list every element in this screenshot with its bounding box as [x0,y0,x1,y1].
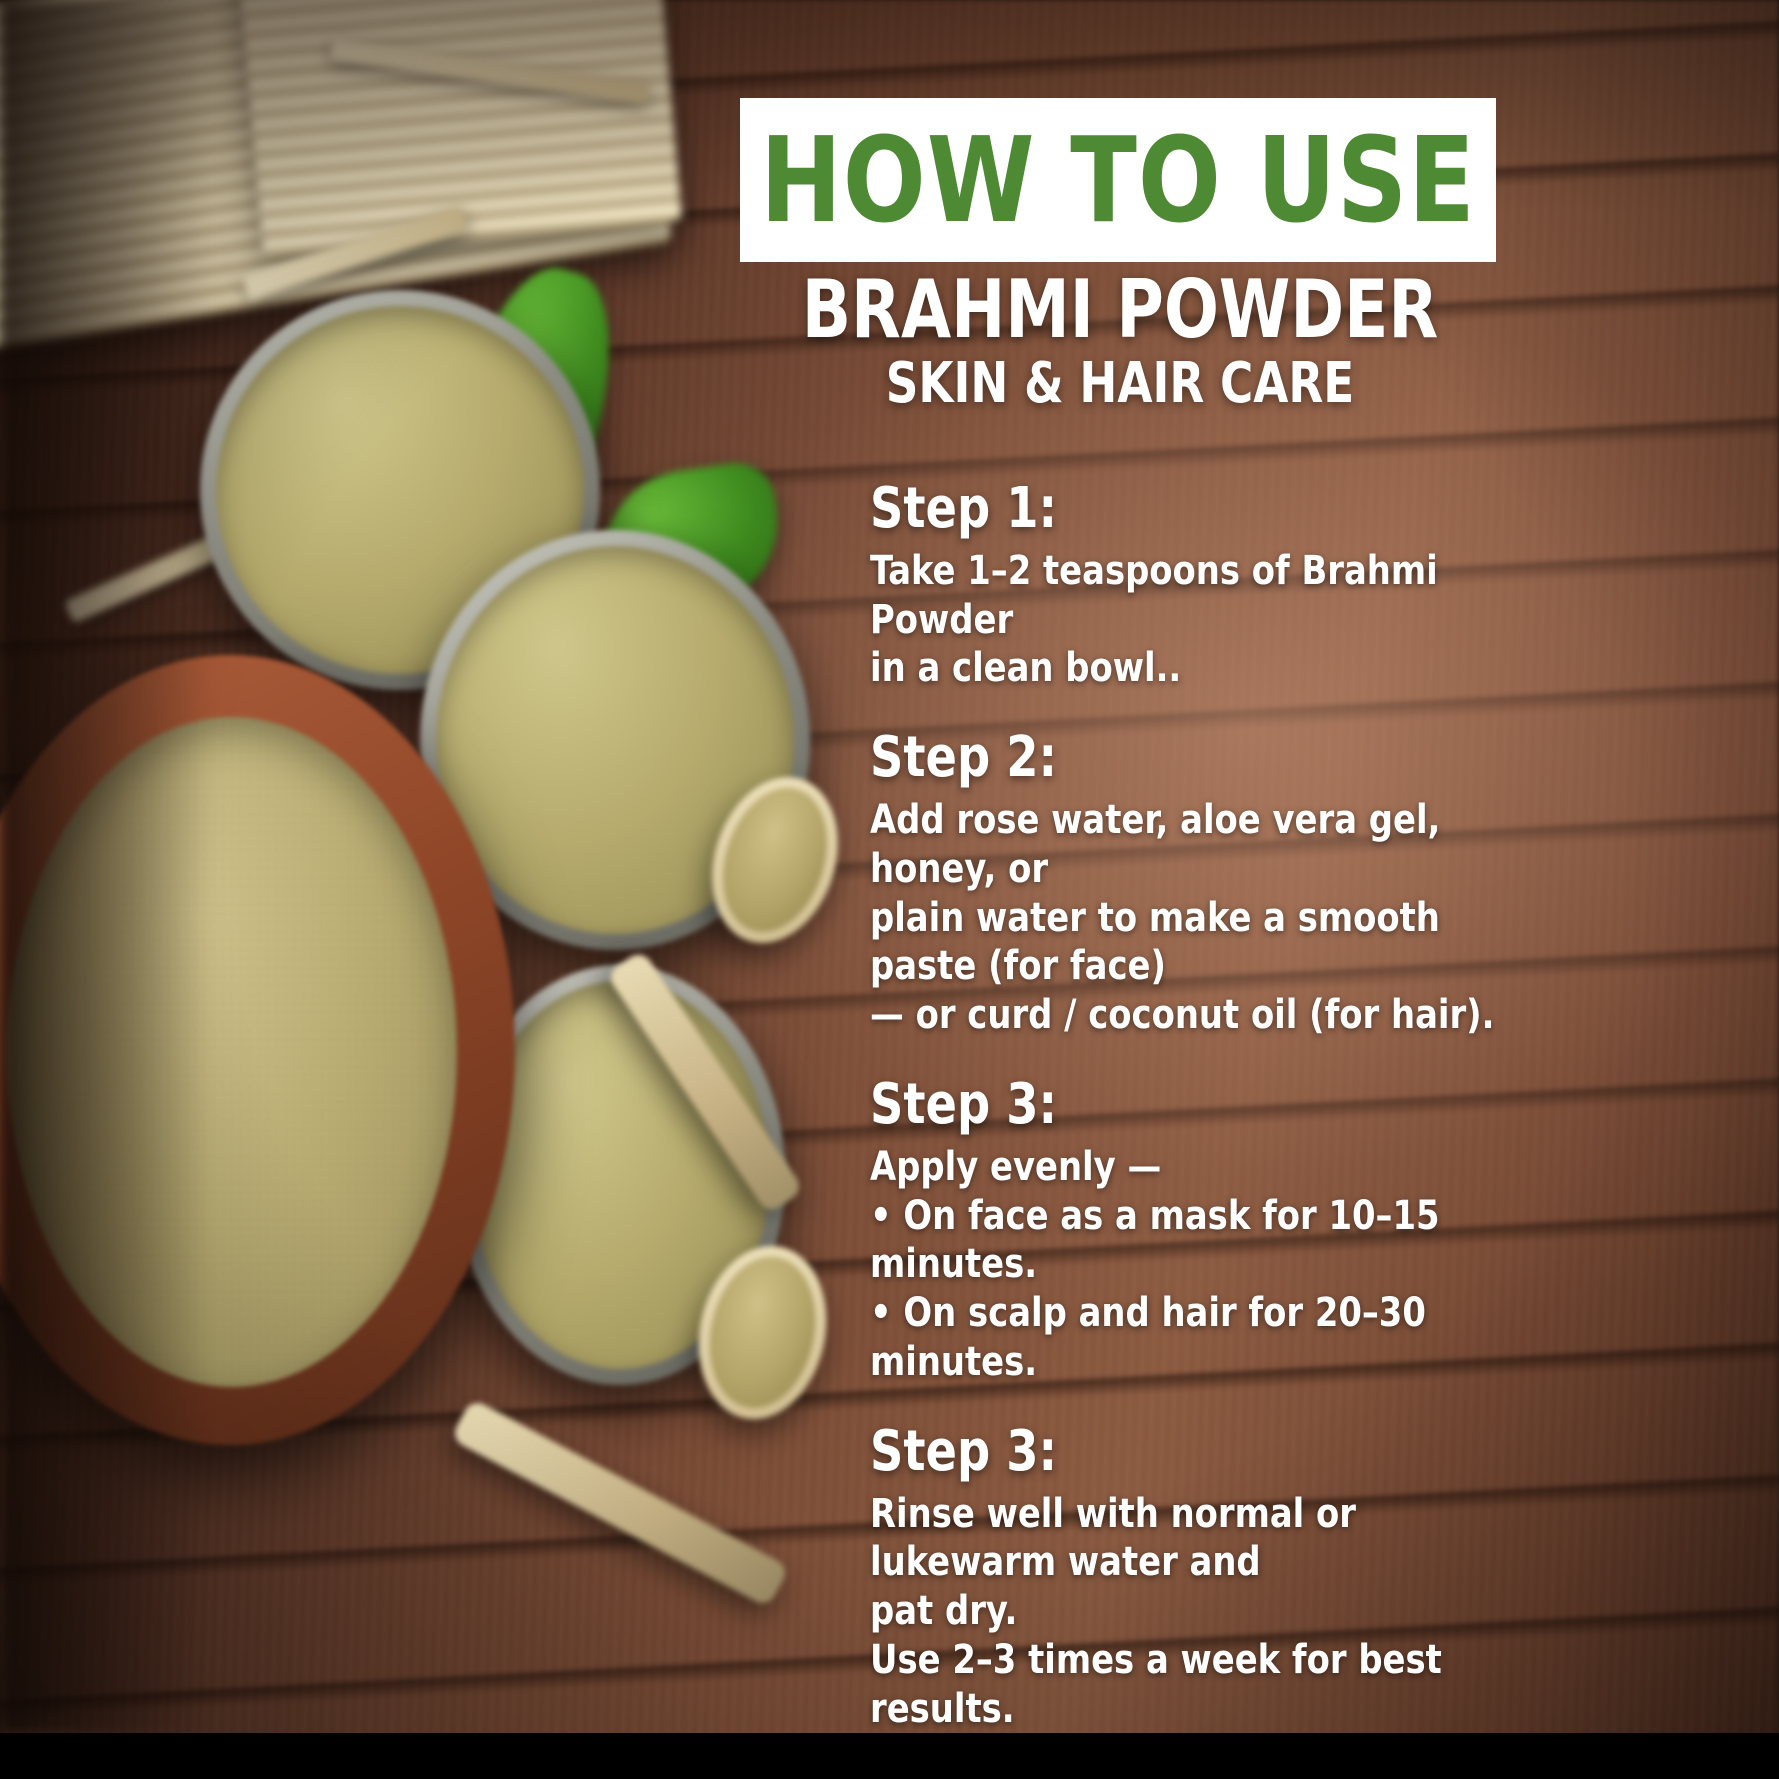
bottom-black-bar [0,1733,1779,1779]
step-item: Step 3: Rinse well with normal or lukewa… [870,1423,1550,1734]
step-item: Step 3: Apply evenly — • On face as a ma… [870,1076,1550,1387]
step-body: Add rose water, aloe vera gel, honey, or… [870,796,1509,1040]
page-title: HOW TO USE [760,121,1476,239]
step-heading: Step 3: [870,1076,1496,1135]
poster-root: HOW TO USE BRAHMI POWDER SKIN & HAIR CAR… [0,0,1779,1779]
step-item: Step 2: Add rose water, aloe vera gel, h… [870,729,1550,1040]
steps-list: Step 1: Take 1–2 teaspoons of Brahmi Pow… [870,480,1550,1734]
step-body: Take 1–2 teaspoons of Brahmi Powder in a… [870,547,1509,693]
step-item: Step 1: Take 1–2 teaspoons of Brahmi Pow… [870,480,1550,693]
product-name: BRAHMI POWDER [778,272,1462,349]
step-body: Apply evenly — • On face as a mask for 1… [870,1143,1509,1387]
product-subtitle: SKIN & HAIR CARE [778,356,1462,412]
step-heading: Step 3: [870,1423,1496,1482]
title-banner: HOW TO USE [740,98,1496,262]
step-heading: Step 2: [870,729,1496,788]
step-heading: Step 1: [870,480,1496,539]
step-body: Rinse well with normal or lukewarm water… [870,1490,1509,1734]
